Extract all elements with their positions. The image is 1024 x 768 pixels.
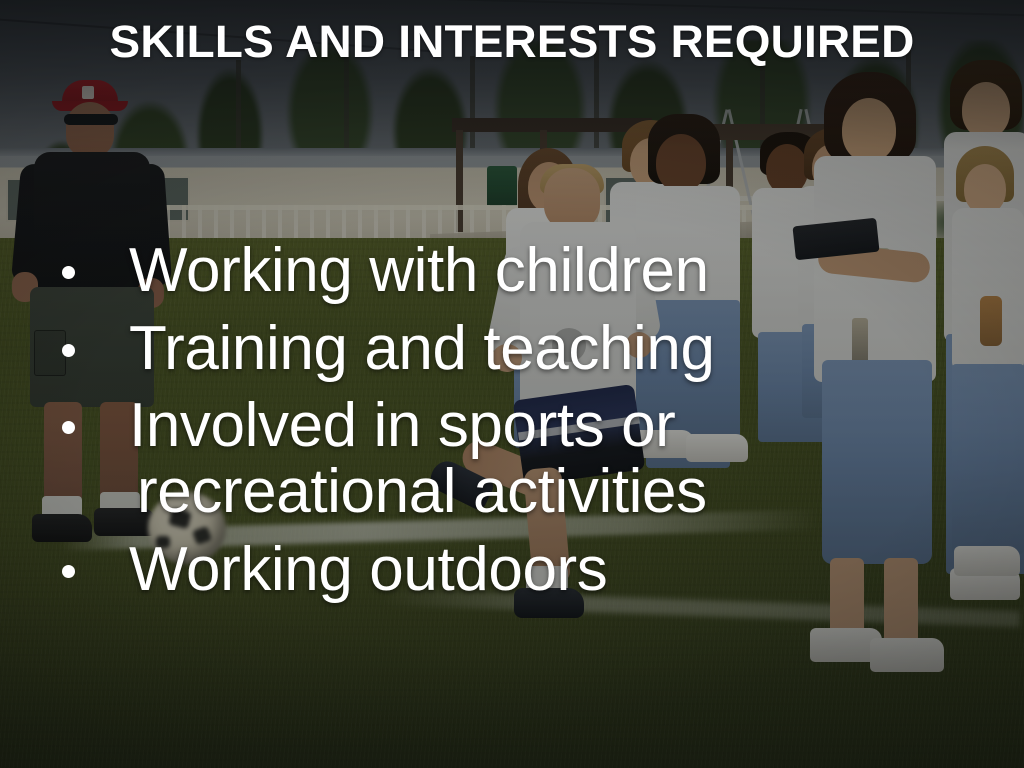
bullet-text-line1: Involved in sports or <box>129 391 675 460</box>
list-item: Training and teaching <box>0 316 1024 382</box>
bullet-dot-icon <box>62 344 75 357</box>
bullet-dot-icon <box>62 421 75 434</box>
bullet-dot-icon <box>62 565 75 578</box>
presentation-slide: SKILLS AND INTERESTS REQUIRED Working wi… <box>0 0 1024 768</box>
list-item: Involved in sports or recreational activ… <box>0 393 1024 524</box>
list-item: Working with children <box>0 238 1024 304</box>
list-item: Working outdoors <box>0 537 1024 603</box>
bullet-list: Working with children Training and teach… <box>0 238 1024 615</box>
bullet-text-line2: recreational activities <box>137 459 984 525</box>
bullet-dot-icon <box>62 266 75 279</box>
bullet-text: Working outdoors <box>129 537 984 603</box>
page-title: SKILLS AND INTERESTS REQUIRED <box>0 16 1024 68</box>
bullet-text: Involved in sports or recreational activ… <box>129 393 984 524</box>
bullet-text: Training and teaching <box>129 316 984 382</box>
bullet-text: Working with children <box>129 238 984 304</box>
